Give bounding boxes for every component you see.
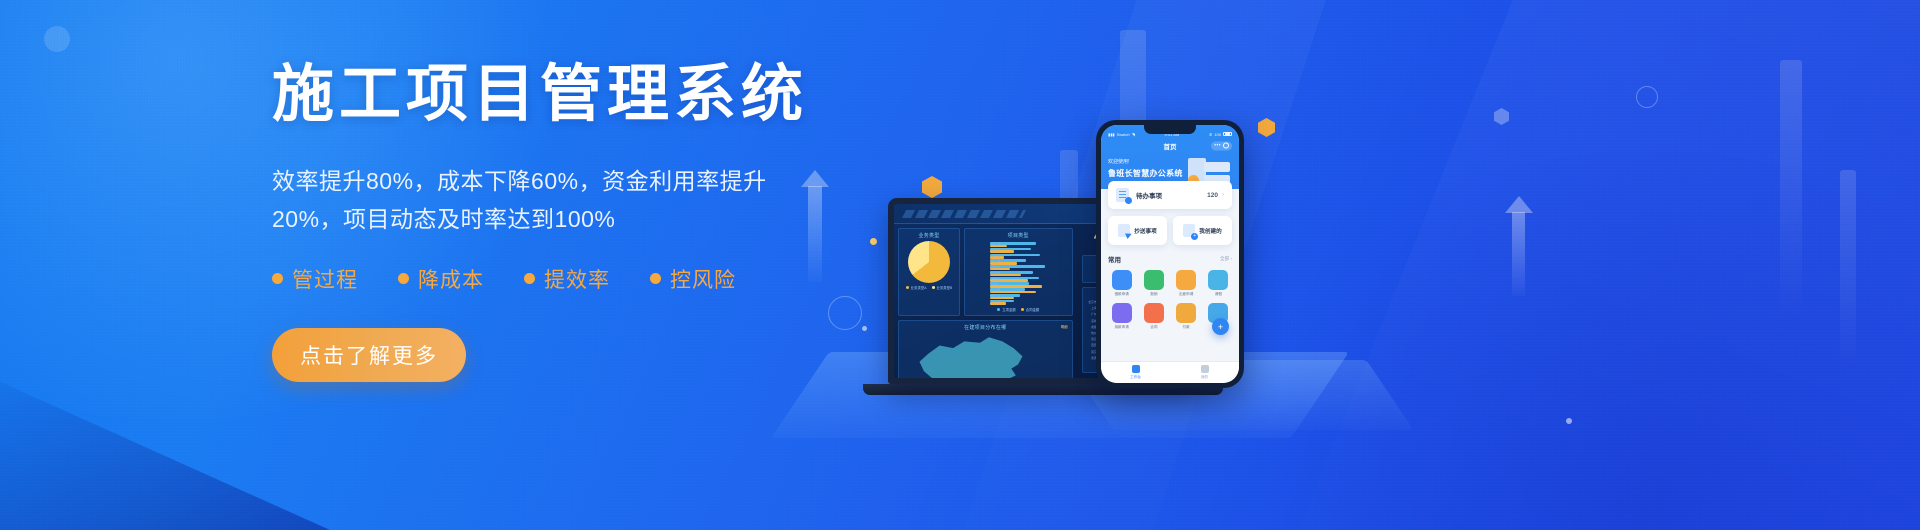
target-icon[interactable] (1223, 143, 1229, 149)
signal-icon: ▮▮▮ (1108, 132, 1115, 137)
legend-item: 业务类型B (932, 285, 953, 290)
todo-count: 120 (1207, 192, 1218, 199)
feature-bullet-label: 提效率 (544, 264, 610, 294)
bar-row-label: 房建工程 (990, 242, 1000, 246)
app-shortcut[interactable]: 请假 (1205, 270, 1232, 297)
bullet-dot-icon (650, 273, 661, 284)
bar-row-label: 机电安装 (990, 277, 1000, 281)
dashboard-left-column: 业务类型 业务类型A 业务类型B 项目类型 房建工程市政工程公路 (894, 224, 1077, 384)
app-shortcut[interactable]: 借款申请 (1108, 270, 1135, 297)
horizontal-bar-chart: 房建工程市政工程公路工程水利工程园林绿化装饰装修机电安装钢结构地基基础消防工程其… (968, 241, 1069, 305)
bar-chart-row: 水利工程 (990, 259, 1069, 263)
bar-chart-row: 消防工程 (990, 294, 1069, 298)
phone-header: ▮▮▮ Swatch ◥ 9:41 AM ✲ 100 首页 (1101, 125, 1239, 189)
legend-item: 合同金额 (1021, 307, 1040, 312)
battery-percent-label: 100 (1214, 132, 1221, 137)
battery-icon (1223, 132, 1232, 137)
app-label: 合同 (1150, 325, 1157, 330)
app-icon (1144, 303, 1164, 323)
phone-screen: ▮▮▮ Swatch ◥ 9:41 AM ✲ 100 首页 (1101, 125, 1239, 383)
map-detail-link[interactable]: 明细 (1061, 324, 1068, 329)
tab-workbench[interactable]: 工作台 (1101, 362, 1170, 383)
app-icon (1144, 270, 1164, 290)
bar-chart-row: 机电安装 (990, 277, 1069, 281)
phone-notch (1144, 125, 1196, 134)
tab-label: 工作台 (1130, 375, 1141, 380)
feature-bullet-list: 管过程 降成本 提效率 控风险 (272, 264, 792, 294)
tab-mine[interactable]: 我的 (1170, 362, 1239, 383)
chevron-right-icon: › (1222, 192, 1224, 198)
status-bar-right: ✲ 100 (1209, 132, 1232, 137)
bar-chart-row: 装饰装修 (990, 271, 1069, 275)
dashboard-header-decoration (902, 210, 1026, 218)
bar-row-label: 消防工程 (990, 294, 1000, 298)
phone-nav-title: 首页 (1164, 141, 1177, 151)
phone-tabbar: 工作台 我的 (1101, 361, 1239, 383)
quick-action-created[interactable]: 我创建的 (1173, 216, 1232, 245)
app-shortcut[interactable]: 合同 (1140, 303, 1167, 330)
app-label: 借款申请 (1114, 292, 1128, 297)
app-shortcut[interactable]: 用款申请 (1108, 303, 1135, 330)
ranking-city-label: 北京市 (1086, 300, 1097, 304)
bar-chart-row: 钢结构 (990, 282, 1069, 286)
send-icon (1118, 224, 1130, 237)
panel-project-type: 项目类型 房建工程市政工程公路工程水利工程园林绿化装饰装修机电安装钢结构地基基础… (964, 228, 1073, 316)
bar-row-label: 园林绿化 (990, 265, 1000, 269)
app-label: 付款 (1183, 325, 1190, 330)
bullet-dot-icon (398, 273, 409, 284)
app-label: 报销 (1150, 292, 1157, 297)
todo-label: 待办事项 (1136, 190, 1162, 200)
bar-chart-row: 房建工程 (990, 242, 1069, 246)
user-icon (1201, 365, 1209, 373)
app-shortcut[interactable]: 付款 (1173, 303, 1200, 330)
bar-chart-row: 市政工程 (990, 248, 1069, 252)
china-map-shape (915, 333, 1027, 384)
decor-dot-5 (44, 26, 70, 52)
bar-chart-row: 公路工程 (990, 254, 1069, 258)
phone-capsule-menu[interactable]: ••• (1211, 141, 1232, 150)
bar-row-label: 市政工程 (990, 248, 1000, 252)
hero-subtitle: 效率提升80%，成本下降60%，资金利用率提升20%，项目动态及时率达到100% (272, 163, 792, 238)
app-icon (1176, 303, 1196, 323)
tab-label: 我的 (1201, 375, 1208, 380)
panel-project-map: 在建项目分布在哪 明细 (898, 320, 1073, 384)
plus-doc-icon (1183, 224, 1195, 237)
wifi-icon: ◥ (1132, 132, 1135, 137)
bar-row-label: 水利工程 (990, 259, 1000, 263)
common-section-title: 常用 (1108, 254, 1121, 264)
floating-action-button[interactable]: + (1212, 318, 1229, 335)
panel-business-type: 业务类型 业务类型A 业务类型B (898, 228, 960, 316)
panel-title: 业务类型 (902, 232, 956, 239)
bar-row-label: 地基基础 (990, 288, 1000, 292)
more-icon[interactable]: ••• (1214, 143, 1221, 149)
feature-bullet-label: 控风险 (670, 264, 736, 294)
pie-legend: 业务类型A 业务类型B (902, 285, 956, 290)
feature-bullet-label: 降成本 (418, 264, 484, 294)
bar-row-label: 钢结构 (990, 282, 998, 286)
bar-row-label: 其他工程 (990, 300, 1000, 304)
dashboard-top-charts: 业务类型 业务类型A 业务类型B 项目类型 房建工程市政工程公路 (898, 228, 1073, 320)
quick-action-cc[interactable]: 抄送事项 (1108, 216, 1167, 245)
app-icon (1176, 270, 1196, 290)
app-icon (1208, 270, 1228, 290)
bar-chart-row: 其他工程 (990, 300, 1069, 304)
todo-card[interactable]: 待办事项 120 › (1108, 181, 1232, 209)
panel-title: 项目类型 (968, 232, 1069, 239)
bar-chart-row: 地基基础 (990, 288, 1069, 292)
app-label: 请假 (1215, 292, 1222, 297)
bullet-dot-icon (272, 273, 283, 284)
bar-row-label: 公路工程 (990, 254, 1000, 258)
feature-bullet-raise-efficiency: 提效率 (524, 264, 610, 294)
carrier-label: Swatch (1117, 132, 1130, 137)
pie-chart (908, 241, 950, 283)
legend-item: 立项金额 (997, 307, 1016, 312)
legend-item: 业务类型A (906, 285, 927, 290)
feature-bullet-control-risk: 控风险 (650, 264, 736, 294)
phone-welcome-block: 欢迎使用! 鲁班长智慧办公系统 (1108, 158, 1232, 179)
bar-row-label: 装饰装修 (990, 271, 1000, 275)
bar-chart-row: 园林绿化 (990, 265, 1069, 269)
china-map-highlight-region (917, 377, 951, 384)
status-bar-left: ▮▮▮ Swatch ◥ (1108, 132, 1135, 137)
common-section-header: 常用 全部 › (1108, 254, 1232, 264)
panel-title: 在建项目分布在哪 (902, 324, 1069, 331)
todo-icon (1116, 188, 1129, 202)
learn-more-button[interactable]: 点击了解更多 (272, 328, 466, 382)
app-label: 出差申请 (1179, 292, 1193, 297)
quick-action-label: 我创建的 (1199, 227, 1221, 235)
promo-banner: 施工项目管理系统 效率提升80%，成本下降60%，资金利用率提升20%，项目动态… (0, 0, 1920, 530)
bluetooth-icon: ✲ (1209, 132, 1212, 137)
common-section-more-link[interactable]: 全部 › (1220, 256, 1232, 262)
quick-action-row: 抄送事项 我创建的 (1108, 216, 1232, 245)
app-label: 用款申请 (1114, 325, 1128, 330)
illustration-card-shape-1 (1204, 162, 1230, 172)
app-icon (1112, 303, 1132, 323)
device-mockups: 市场管理报表 业务类型 业务类型A 业务类型B (790, 0, 1920, 530)
phone-navbar: 首页 ••• (1108, 139, 1232, 152)
phone-content: 待办事项 120 › 抄送事项 我创建的 (1101, 189, 1239, 361)
workbench-icon (1132, 365, 1140, 373)
phone-mockup: ▮▮▮ Swatch ◥ 9:41 AM ✲ 100 首页 (1096, 120, 1244, 388)
bar-legend: 立项金额 合同金额 (968, 307, 1069, 312)
quick-action-label: 抄送事项 (1134, 227, 1156, 235)
app-icon (1112, 270, 1132, 290)
feature-bullet-label: 管过程 (292, 264, 358, 294)
app-shortcut[interactable]: 出差申请 (1173, 270, 1200, 297)
app-shortcut[interactable]: 报销 (1140, 270, 1167, 297)
feature-bullet-manage-process: 管过程 (272, 264, 358, 294)
bullet-dot-icon (524, 273, 535, 284)
feature-bullet-reduce-cost: 降成本 (398, 264, 484, 294)
